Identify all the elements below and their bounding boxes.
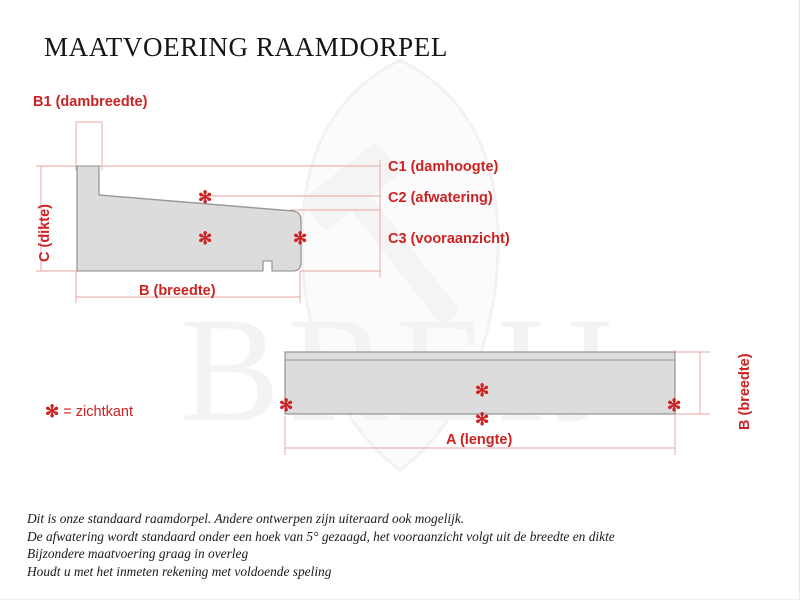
footer-line-3: Bijzondere maatvoering graag in overleg [27, 545, 615, 563]
label-c3-vooraanzicht: C3 (vooraanzicht) [388, 231, 510, 247]
label-c2-afwatering: C2 (afwatering) [388, 190, 493, 206]
footer-notes: Dit is onze standaard raamdorpel. Andere… [27, 510, 615, 580]
footer-line-2: De afwatering wordt standaard onder een … [27, 528, 615, 546]
footer-line-1: Dit is onze standaard raamdorpel. Andere… [27, 510, 615, 528]
legend: ✻ = zichtkant [45, 402, 133, 422]
label-c1-damhoogte: C1 (damhoogte) [388, 159, 498, 175]
legend-equals: = [63, 404, 71, 420]
label-b-breedte-plan: B (breedte) [737, 353, 753, 430]
label-b-breedte-section: B (breedte) [139, 283, 216, 299]
zichtkant-marker: ✻ [198, 188, 212, 208]
zichtkant-marker: ✻ [279, 396, 293, 416]
drawing-page: BREIJ [0, 0, 800, 600]
legend-text: zichtkant [76, 404, 133, 420]
page-title: MAATVOERING RAAMDORPEL [44, 32, 448, 63]
label-a-lengte: A (lengte) [446, 432, 512, 448]
zichtkant-marker: ✻ [198, 229, 212, 249]
label-c-dikte: C (dikte) [37, 204, 53, 262]
zichtkant-marker: ✻ [293, 229, 307, 249]
zichtkant-marker: ✻ [667, 396, 681, 416]
sill-profile-shape [77, 166, 301, 271]
legend-star-icon: ✻ [45, 402, 59, 421]
label-b1-dambreedte: B1 (dambreedte) [33, 94, 147, 110]
zichtkant-marker: ✻ [475, 381, 489, 401]
section-view-group [36, 122, 380, 303]
zichtkant-marker: ✻ [475, 410, 489, 430]
footer-line-4: Houdt u met het inmeten rekening met vol… [27, 563, 615, 581]
